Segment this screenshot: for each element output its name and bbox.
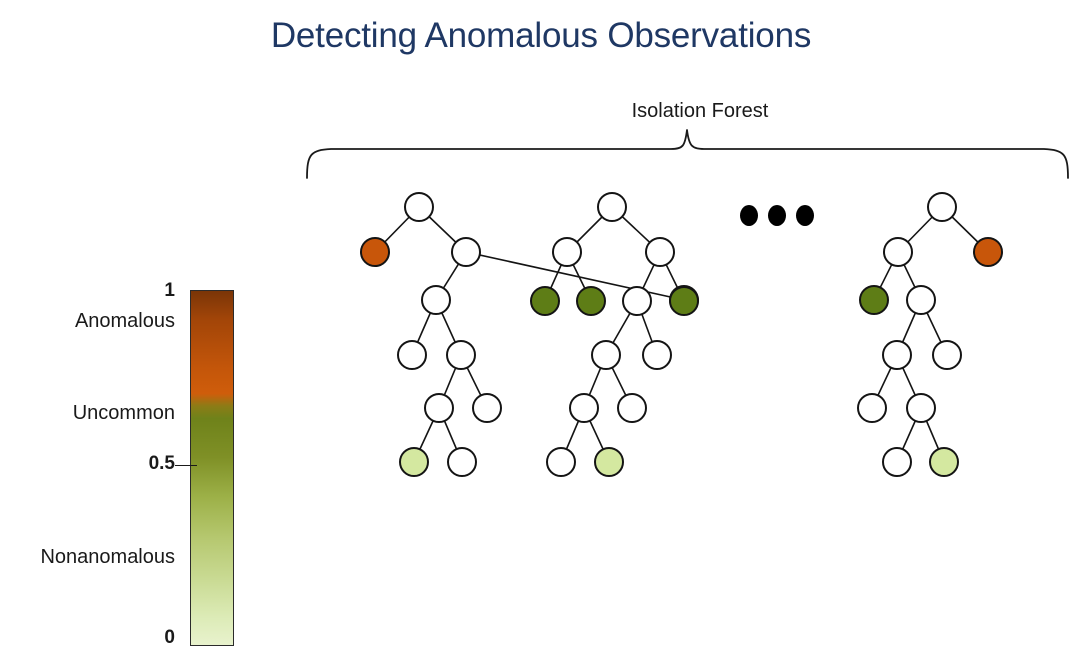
tree-1 xyxy=(361,193,698,476)
tree-node-white xyxy=(884,238,912,266)
colorbar-min-label: 0 xyxy=(55,627,175,649)
tree-node-light-green xyxy=(595,448,623,476)
tree-3 xyxy=(858,193,1002,476)
tree-node-dark-green xyxy=(577,287,605,315)
tree-node-white xyxy=(398,341,426,369)
tree-node-white xyxy=(623,287,651,315)
ellipsis-dot-3 xyxy=(796,205,814,226)
tree-node-white xyxy=(928,193,956,221)
tree-node-orange xyxy=(361,238,389,266)
tree-node-white xyxy=(598,193,626,221)
tree-node-white xyxy=(448,448,476,476)
tree-node-white xyxy=(883,448,911,476)
tree-node-white xyxy=(592,341,620,369)
ellipsis-dot-1 xyxy=(740,205,758,226)
tree-node-white xyxy=(646,238,674,266)
isolation-forest-trees xyxy=(0,0,1082,550)
tree-2 xyxy=(531,193,698,476)
tree-node-white xyxy=(858,394,886,422)
tree-node-dark-green xyxy=(670,287,698,315)
tree-node-white xyxy=(447,341,475,369)
tree-node-white xyxy=(422,286,450,314)
tree-node-white xyxy=(547,448,575,476)
tree-node-white xyxy=(452,238,480,266)
tree-node-white xyxy=(883,341,911,369)
tree-node-white xyxy=(425,394,453,422)
tree-node-light-green xyxy=(400,448,428,476)
tree-node-light-green xyxy=(930,448,958,476)
tree-node-white xyxy=(570,394,598,422)
tree-1-edges xyxy=(375,207,684,462)
ellipsis-dot-2 xyxy=(768,205,786,226)
tree-node-white xyxy=(907,286,935,314)
tree-node-dark-green xyxy=(531,287,559,315)
tree-node-white xyxy=(473,394,501,422)
tree-node-white xyxy=(553,238,581,266)
tree-node-white xyxy=(907,394,935,422)
tree-node-dark-green xyxy=(860,286,888,314)
tree-node-white xyxy=(618,394,646,422)
tree-node-white xyxy=(643,341,671,369)
ellipsis-dots xyxy=(740,205,820,231)
tree-node-orange xyxy=(974,238,1002,266)
tree-node-white xyxy=(405,193,433,221)
tree-node-white xyxy=(933,341,961,369)
slide-canvas: Detecting Anomalous Observations 1 0.5 0… xyxy=(0,0,1082,550)
